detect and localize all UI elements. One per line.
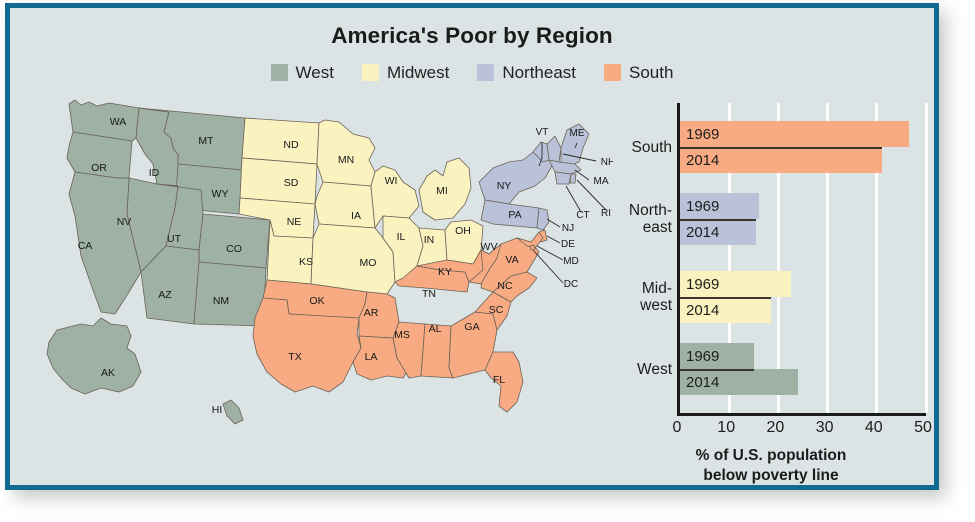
figure-frame: America's Poor by Region WestMidwestNort… [5,3,939,490]
state-label-in: IN [424,234,435,246]
x-axis-title: % of U.S. population below poverty line [606,446,936,486]
state-label-nm: NM [213,295,229,307]
bar-pair-separator [680,147,882,149]
map-panel: WAORIDMTWYNVUTCOCAAZNMAKHINDSDNEKSMNIAMO… [23,86,613,431]
state-label-ga: GA [464,321,479,333]
leader-line-de [547,236,560,243]
legend-swatch-icon [271,64,288,81]
bar-northeast-2014: 2014 [680,219,756,245]
legend-item-midwest: Midwest [362,64,449,81]
state-nh [547,136,561,162]
state-label-pa: PA [508,209,521,221]
state-dc [530,245,535,250]
state-label-co: CO [226,243,242,255]
bar-year-label: 2014 [680,153,719,168]
us-regions-svg: WAORIDMTWYNVUTCOCAAZNMAKHINDSDNEKSMNIAMO… [23,86,613,431]
state-label-ia: IA [351,210,361,222]
state-ak [47,318,141,394]
state-callout-de: DE [561,239,575,250]
state-label-ne: NE [287,216,302,228]
state-label-wi: WI [385,175,398,187]
bar-pair-separator [680,369,754,371]
bar-south-1969: 1969 [680,121,909,147]
state-sd [240,158,317,204]
legend-item-northeast: Northeast [477,64,576,81]
leader-line-md [537,246,563,260]
bar-pair-separator [680,297,771,299]
bar-midwest-2014: 2014 [680,297,771,323]
x-axis-title-line-2: below poverty line [606,466,936,486]
legend-item-label: Midwest [387,64,449,81]
state-label-wy: WY [212,188,229,200]
x-axis-title-line-1: % of U.S. population [606,446,936,466]
x-tick-label: 50 [914,419,932,437]
group-label-line: North- [562,202,672,219]
leader-line-ma [575,170,589,180]
state-label-wa: WA [110,116,127,128]
legend-item-label: West [296,64,334,81]
state-label-mt: MT [198,135,214,147]
x-tick-label: 20 [766,419,784,437]
state-nm [194,262,266,326]
x-axis-ticks: 01020304050 [677,419,923,443]
state-label-oh: OH [455,225,471,237]
state-label-hi: HI [212,404,223,416]
state-label-ok: OK [309,295,324,307]
state-label-ms: MS [394,329,410,341]
state-label-sd: SD [284,177,299,189]
state-label-fl: FL [493,374,505,386]
legend-item-label: Northeast [502,64,576,81]
legend-swatch-icon [477,64,494,81]
legend-item-west: West [271,64,334,81]
gridline-50 [925,103,928,413]
state-ia [315,182,375,228]
state-label-mi: MI [436,185,448,197]
plot-area: 19692014196920141969201419692014 [677,103,926,416]
state-hi [223,400,243,424]
state-label-ar: AR [364,307,379,319]
bar-year-label: 1969 [680,127,719,142]
state-label-al: AL [429,323,442,335]
state-label-id: ID [149,167,160,179]
state-callout-me: ME [570,128,585,139]
state-label-or: OR [91,162,107,174]
bar-northeast-1969: 1969 [680,193,759,219]
legend-item-label: South [629,64,673,81]
state-label-il: IL [397,231,406,243]
leader-line-nj [547,219,560,227]
group-label-west: West [562,361,672,378]
state-ri [570,174,576,183]
state-nd [242,118,319,164]
legend-swatch-icon [362,64,379,81]
figure-root: America's Poor by Region WestMidwestNort… [0,0,975,522]
group-label-line: west [562,297,672,314]
group-label-midwest: Mid-west [562,280,672,314]
state-label-nd: ND [283,139,299,151]
state-label-nc: NC [497,280,513,292]
state-label-sc: SC [489,304,504,316]
state-mo [311,224,395,294]
state-label-az: AZ [158,289,172,301]
state-ct [555,172,571,184]
state-label-wv: WV [481,241,498,253]
state-label-tn: TN [422,288,436,300]
state-label-ks: KS [299,256,313,268]
legend-swatch-icon [604,64,621,81]
legend: WestMidwestNortheastSouth [10,64,934,81]
state-mn [317,120,375,186]
x-tick-label: 0 [673,419,682,437]
bar-south-2014: 2014 [680,147,882,173]
x-tick-label: 10 [717,419,735,437]
state-label-ky: KY [438,266,452,278]
state-label-la: LA [365,351,378,363]
bar-year-label: 2014 [680,225,719,240]
bar-year-label: 1969 [680,199,719,214]
bar-west-1969: 1969 [680,343,754,369]
state-label-ak: AK [101,367,115,379]
state-label-nv: NV [117,216,132,228]
x-tick-label: 30 [816,419,834,437]
bar-west-2014: 2014 [680,369,798,395]
bar-midwest-1969: 1969 [680,271,791,297]
bar-year-label: 1969 [680,277,719,292]
state-label-va: VA [505,254,518,266]
state-label-ca: CA [78,240,93,252]
state-label-ny: NY [497,180,512,192]
state-label-tx: TX [288,351,301,363]
state-label-mn: MN [338,154,354,166]
state-callout-vt: VT [536,127,549,138]
leader-line-dc [533,250,563,283]
group-label-south: South [562,139,672,156]
bar-pair-separator [680,219,756,221]
group-label-northeast: North-east [562,202,672,236]
bar-year-label: 1969 [680,349,719,364]
state-callout-md: MD [563,256,579,267]
group-label-line: West [562,361,672,378]
group-label-line: Mid- [562,280,672,297]
bar-chart-panel: 19692014196920141969201419692014 0102030… [606,94,936,484]
legend-item-south: South [604,64,673,81]
x-tick-label: 40 [865,419,883,437]
bar-year-label: 2014 [680,375,719,390]
page-title: America's Poor by Region [10,23,934,49]
state-label-ut: UT [167,233,182,245]
state-label-mo: MO [360,257,377,269]
bar-year-label: 2014 [680,303,719,318]
state-co [199,214,270,268]
group-label-line: east [562,219,672,236]
group-label-line: South [562,139,672,156]
